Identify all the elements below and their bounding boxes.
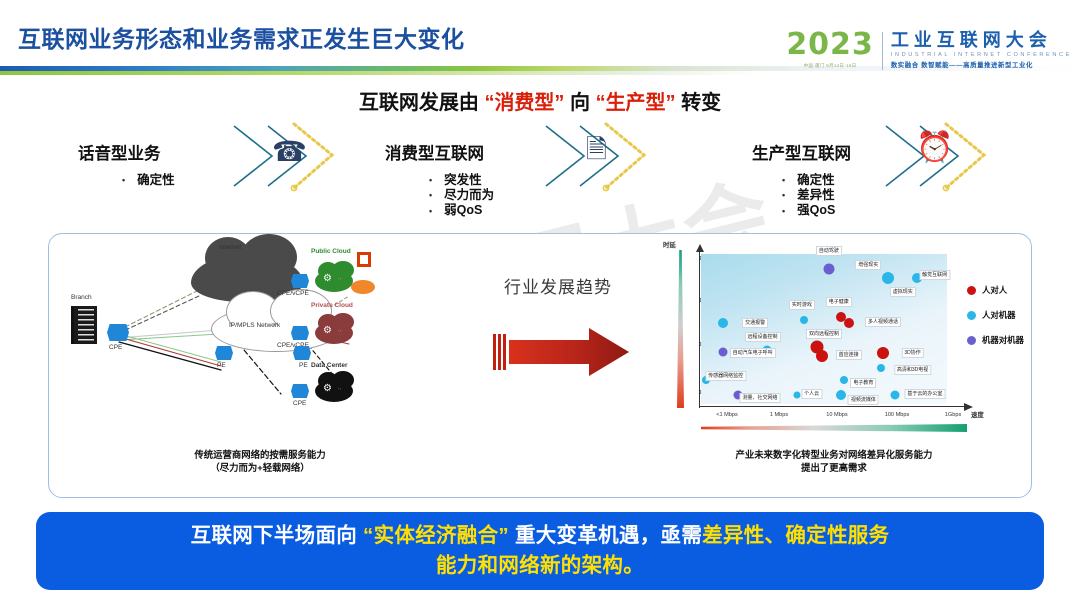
- x-tick: 1 Mbps: [770, 412, 788, 418]
- chart-legend: 人对人 人对机器 机器对机器: [967, 284, 1024, 359]
- network-diagram-caption: 传统运营商网络的按需服务能力 （尽力而为+轻载网络）: [65, 448, 455, 474]
- document-icon: 🗎: [586, 135, 607, 163]
- logo-year: 2023: [786, 30, 874, 60]
- chart-point: [793, 392, 800, 399]
- stage-bullet: 突发性: [429, 173, 494, 188]
- logo-year-block: 2023 中国·厦门 8月14日-16日: [786, 30, 882, 69]
- legend-item: 人对人: [967, 284, 1024, 296]
- page-title: 互联网业务形态和业务需求正发生巨大变化: [18, 20, 465, 54]
- x-axis-line: [699, 406, 967, 407]
- chart-point-label: 自动驾驶: [816, 246, 842, 256]
- x-tick: 1Gbps: [945, 412, 961, 418]
- pe-left-label: PE: [217, 362, 226, 369]
- chart-point: [816, 350, 828, 362]
- x-tick: <1 Mbps: [716, 412, 738, 418]
- chevron-stage-1: ☎: [228, 122, 340, 192]
- plot-area: 自动驾驶增强现实触觉互联网虚拟现实实时游戏电子健康多人视频通话交通报警双向远程控…: [701, 254, 947, 404]
- header-divider-accent: [0, 71, 760, 75]
- y-axis-label: 时延: [663, 240, 676, 249]
- arrow-shape: [493, 324, 631, 380]
- internet-label: Internet: [219, 244, 241, 251]
- chart-point: [840, 376, 848, 384]
- latency-speed-scatter-chart: 时延 速度 1 ms 10 ms 100 ms 1 s <1 Mbps 1 Mb…: [649, 242, 1025, 447]
- chart-point-label: 基于云的办公室: [904, 389, 945, 399]
- stage-voice-business: 话音型业务 确定性: [78, 140, 175, 188]
- banner-highlight-1: “实体经济融合”: [363, 524, 509, 547]
- legend-item: 人对机器: [967, 309, 1024, 321]
- chart-point-label: 远程设备控制: [744, 332, 780, 342]
- logo-year-subtitle: 中国·厦门 8月14日-16日: [786, 63, 874, 69]
- chart-point-label: 3D协作: [901, 348, 923, 358]
- stage-bullet: 确定性: [122, 173, 175, 188]
- legend-dot-p2m: [967, 311, 976, 320]
- subtitle-part-3: 转变: [676, 92, 722, 114]
- chart-point: [836, 390, 846, 400]
- chart-point-label: 视频流媒体: [848, 395, 879, 405]
- network-topology-diagram: Internet IP/MPLS Network Branch CPE PE P…: [49, 234, 469, 449]
- banner-part-2: 重大变革机遇，亟需: [509, 524, 702, 547]
- stage-bullets: 突发性 尽力而为 弱QoS: [429, 173, 494, 219]
- caption-line-2: 提出了更高需求: [639, 461, 1029, 474]
- pe-router-right-icon: [293, 346, 311, 360]
- cpe-router-icon: [107, 324, 129, 341]
- gear-icon: ⚙: [336, 382, 345, 392]
- stage-bullet: 弱QoS: [429, 203, 494, 218]
- chart-point: [844, 318, 854, 328]
- chart-point-label: 个人云: [801, 389, 822, 399]
- gear-icon: ⚙: [336, 324, 345, 334]
- latency-gradient-bar: [677, 250, 684, 408]
- content-panel: Internet IP/MPLS Network Branch CPE PE P…: [48, 233, 1032, 498]
- mpls-label: IP/MPLS Network: [229, 322, 280, 329]
- chart-point-label: 电子教育: [850, 378, 876, 388]
- chart-point-label: 双向远程控制: [806, 329, 842, 339]
- chart-point: [800, 316, 808, 324]
- stage-bullets: 确定性 差异性 强QoS: [782, 173, 851, 219]
- branch-building-icon: [71, 306, 97, 344]
- aws-icon: [351, 280, 375, 294]
- chart-point-label: 增强现实: [855, 260, 881, 270]
- conclusion-banner: 互联网下半场面向 “实体经济融合” 重大变革机遇，亟需差异性、确定性服务能力和网…: [36, 512, 1044, 590]
- gear-icon: ⚙: [323, 326, 332, 336]
- chart-point-label: 交通报警: [742, 318, 768, 328]
- chart-point-label: 首应连接: [836, 350, 862, 360]
- slide: 工业互联网大会 2023工业互联网大会 互联网业务形态和业务需求正发生巨大变化 …: [0, 0, 1080, 608]
- x-axis-arrow: [963, 402, 973, 412]
- chart-point-label: 实时游戏: [789, 300, 815, 310]
- legend-label: 机器对机器: [982, 334, 1024, 346]
- y-axis-arrow: [695, 244, 705, 254]
- subtitle-highlight-consumer: “消费型”: [484, 92, 564, 114]
- legend-label: 人对人: [982, 284, 1007, 296]
- subtitle-part-1: 互联网发展由: [359, 92, 485, 114]
- phone-icon: ☎: [272, 138, 307, 166]
- logo-divider: [882, 32, 883, 70]
- branch-label: Branch: [71, 294, 92, 301]
- legend-label: 人对机器: [982, 309, 1016, 321]
- caption-line-2: （尽力而为+轻载网络）: [65, 461, 455, 474]
- chart-point-label: 电子健康: [826, 297, 852, 307]
- logo-name-cn: 工业互联网大会: [891, 31, 1072, 50]
- banner-highlight-2: 差异性、确定性服务: [702, 524, 889, 547]
- stage-title: 生产型互联网: [752, 140, 851, 164]
- pe-right-label: PE: [299, 362, 308, 369]
- stage-bullet: 差异性: [782, 188, 851, 203]
- chart-caption: 产业未来数字化转型业务对网络差异化服务能力 提出了更高需求: [639, 448, 1029, 474]
- stage-bullet: 尽力而为: [429, 188, 494, 203]
- cpe-bottom-router-icon: [291, 384, 309, 398]
- banner-highlight-3: 能力和网络新的架构。: [436, 554, 644, 577]
- cpe-vcpe-1-label: CPE/vCPE: [277, 290, 309, 297]
- gear-icon: ⚙: [323, 274, 332, 284]
- x-tick: 10 Mbps: [826, 412, 847, 418]
- office-icon: [357, 252, 371, 267]
- chart-point-label: 触觉互联网: [919, 270, 950, 280]
- pe-router-left-icon: [215, 346, 233, 360]
- section-subtitle: 互联网发展由 “消费型” 向 “生产型” 转变: [0, 86, 1080, 115]
- public-cloud-icon: ⚙ ⚙: [315, 270, 353, 292]
- speed-gradient-bar: [701, 424, 967, 432]
- chevron-stage-2: 🗎: [540, 122, 652, 192]
- slide-header: 互联网业务形态和业务需求正发生巨大变化 2023 中国·厦门 8月14日-16日…: [0, 0, 1080, 76]
- legend-item: 机器对机器: [967, 334, 1024, 346]
- stage-consumer-internet: 消费型互联网 突发性 尽力而为 弱QoS: [385, 140, 494, 219]
- logo-name-en: INDUSTRIAL INTERNET CONFERENCE: [891, 52, 1072, 58]
- cpe-vcpe-2-router-icon: [291, 326, 309, 340]
- stage-production-internet: 生产型互联网 确定性 差异性 强QoS: [752, 140, 851, 219]
- chevron-stage-3: ⏰: [880, 122, 992, 192]
- banner-part-1: 互联网下半场面向: [191, 524, 363, 547]
- subtitle-part-2: 向: [564, 92, 595, 114]
- data-center-label: Data Center: [311, 362, 347, 369]
- gear-icon: ⚙: [323, 384, 332, 394]
- chart-point-label: 自动汽车电子呼叫: [730, 348, 776, 358]
- caption-line-1: 传统运营商网络的按需服务能力: [65, 448, 455, 461]
- banner-text: 互联网下半场面向 “实体经济融合” 重大变革机遇，亟需差异性、确定性服务能力和网…: [191, 521, 890, 581]
- trend-arrow: [493, 324, 631, 380]
- conference-logo: 2023 中国·厦门 8月14日-16日 工业互联网大会 INDUSTRIAL …: [786, 30, 1072, 76]
- cpe-vcpe-1-router-icon: [291, 274, 309, 288]
- chart-point-label: 高清和3D电视: [894, 365, 931, 375]
- chart-point-label: 多人视频通话: [865, 317, 901, 327]
- logo-text-block: 工业互联网大会 INDUSTRIAL INTERNET CONFERENCE 数…: [891, 30, 1072, 69]
- chart-point: [877, 364, 885, 372]
- stopwatch-icon: ⏰: [916, 134, 953, 162]
- private-cloud-icon: ⚙ ⚙: [315, 322, 353, 344]
- chart-point: [882, 272, 894, 284]
- chart-point: [718, 318, 728, 328]
- legend-dot-m2m: [967, 336, 976, 345]
- stage-bullet: 确定性: [782, 173, 851, 188]
- cpe-bottom-label: CPE: [293, 400, 306, 407]
- legend-dot-p2p: [967, 286, 976, 295]
- stage-bullet: 强QoS: [782, 203, 851, 218]
- trend-label: 行业发展趋势: [504, 273, 612, 298]
- caption-line-1: 产业未来数字化转型业务对网络差异化服务能力: [639, 448, 1029, 461]
- stage-title: 消费型互联网: [385, 140, 494, 164]
- private-cloud-label: Private Cloud: [311, 302, 353, 309]
- logo-tagline: 数实融合 数智赋能——高质量推进新型工业化: [891, 60, 1072, 69]
- gear-icon: ⚙: [336, 272, 345, 282]
- cpe-label: CPE: [109, 344, 122, 351]
- subtitle-highlight-production: “生产型”: [596, 92, 676, 114]
- chart-point-label: 传感器网络监控: [705, 371, 746, 381]
- stage-bullets: 确定性: [122, 173, 175, 188]
- x-tick: 100 Mbps: [885, 412, 910, 418]
- chart-point-label: 虚拟现实: [890, 287, 916, 297]
- chart-point: [877, 347, 889, 359]
- chart-point: [719, 347, 728, 356]
- chart-point: [891, 391, 900, 400]
- stage-title: 话音型业务: [78, 140, 175, 164]
- public-cloud-label: Public Cloud: [311, 248, 351, 255]
- chart-point-label: 测量、社交网络: [740, 393, 781, 403]
- chart-point: [823, 264, 834, 275]
- data-center-icon: ⚙ ⚙: [315, 380, 353, 402]
